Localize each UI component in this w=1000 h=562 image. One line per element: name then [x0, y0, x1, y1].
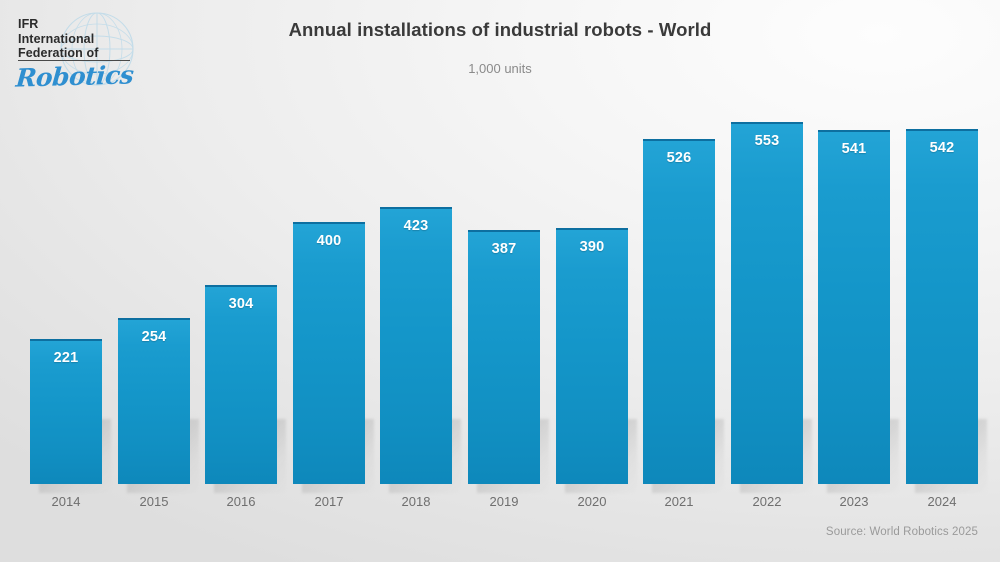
x-axis-label-2015: 2015: [118, 494, 190, 509]
x-axis-label-2023: 2023: [818, 494, 890, 509]
bar-2015[interactable]: 254: [118, 318, 190, 484]
bar-group-2022: 5532022: [731, 104, 803, 484]
chart-slide: IFR International Federation of Robotics…: [0, 0, 1000, 562]
bar-value-label-2017: 400: [293, 233, 365, 249]
bar-2023[interactable]: 541: [818, 130, 890, 484]
source-note: Source: World Robotics 2025: [826, 526, 978, 538]
bar-2018[interactable]: 423: [380, 207, 452, 484]
bar-group-2014: 2212014: [30, 104, 102, 484]
x-axis-label-2014: 2014: [30, 494, 102, 509]
x-axis-label-2020: 2020: [556, 494, 628, 509]
bar-chart-plot-area: 2212014254201530420164002017423201838720…: [30, 104, 978, 484]
logo-line-federation: Federation of: [18, 46, 194, 61]
bar-group-2015: 2542015: [118, 104, 190, 484]
chart-title: Annual installations of industrial robot…: [0, 19, 1000, 41]
x-axis-label-2017: 2017: [293, 494, 365, 509]
bar-2020[interactable]: 390: [556, 228, 628, 484]
bar-2021[interactable]: 526: [643, 139, 715, 484]
bar-value-label-2020: 390: [556, 239, 628, 255]
bar-group-2019: 3872019: [468, 104, 540, 484]
bar-2016[interactable]: 304: [205, 285, 277, 484]
x-axis-label-2021: 2021: [643, 494, 715, 509]
bar-group-2018: 4232018: [380, 104, 452, 484]
bar-group-2023: 5412023: [818, 104, 890, 484]
bar-2014[interactable]: 221: [30, 339, 102, 484]
x-axis-label-2019: 2019: [468, 494, 540, 509]
x-axis-label-2016: 2016: [205, 494, 277, 509]
bar-value-label-2022: 553: [731, 133, 803, 149]
bar-group-2016: 3042016: [205, 104, 277, 484]
bar-2022[interactable]: 553: [731, 122, 803, 484]
bar-2019[interactable]: 387: [468, 230, 540, 484]
bar-value-label-2016: 304: [205, 296, 277, 312]
bar-2017[interactable]: 400: [293, 222, 365, 484]
bar-group-2020: 3902020: [556, 104, 628, 484]
bar-value-label-2018: 423: [380, 218, 452, 234]
x-axis-label-2018: 2018: [380, 494, 452, 509]
bar-group-2024: 5422024: [906, 104, 978, 484]
bar-value-label-2023: 541: [818, 141, 890, 157]
bar-value-label-2021: 526: [643, 150, 715, 166]
chart-subtitle: 1,000 units: [0, 61, 1000, 76]
bar-value-label-2014: 221: [30, 350, 102, 366]
bar-group-2017: 4002017: [293, 104, 365, 484]
bar-2024[interactable]: 542: [906, 129, 978, 484]
bar-value-label-2024: 542: [906, 140, 978, 156]
bar-group-2021: 5262021: [643, 104, 715, 484]
x-axis-label-2022: 2022: [731, 494, 803, 509]
bar-value-label-2015: 254: [118, 329, 190, 345]
bar-value-label-2019: 387: [468, 241, 540, 257]
x-axis-label-2024: 2024: [906, 494, 978, 509]
